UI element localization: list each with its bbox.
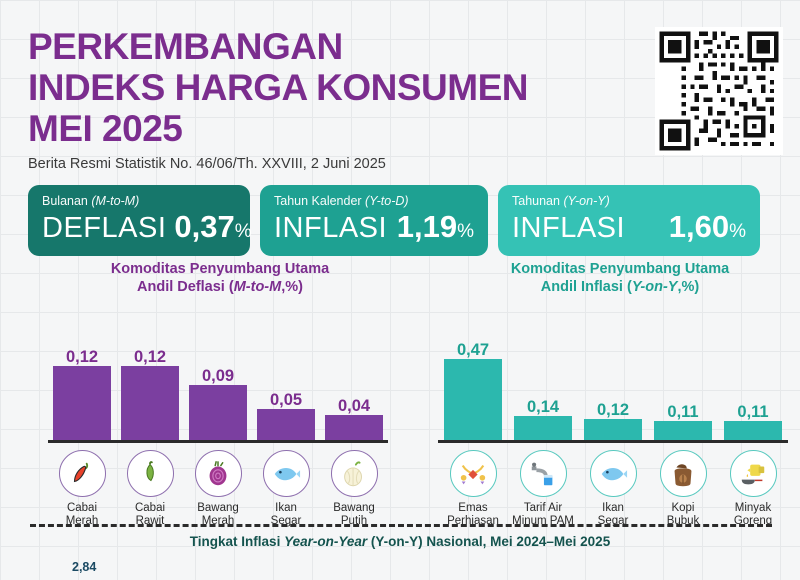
bar	[514, 416, 572, 440]
bar	[444, 359, 502, 440]
page-subtitle: Berita Resmi Statistik No. 46/06/Th. XXV…	[28, 156, 528, 172]
garlic-icon	[331, 450, 378, 497]
chart-inflasi-y-on-y: 0,470,140,120,110,11 EmasPerhiasanTarif …	[438, 318, 788, 518]
chili-red-icon	[59, 450, 106, 497]
onion-red-icon	[195, 450, 242, 497]
page-title-line-1: PERKEMBANGAN	[28, 26, 528, 67]
bar-value-label: 0,47	[457, 341, 489, 359]
bar-column: 0,47	[438, 318, 508, 440]
stat-label-ytd: Tahun Kalender (Y-to-D)	[274, 194, 474, 208]
bar-column: 0,12	[48, 318, 116, 440]
stat-value-yoy: 1,60	[661, 209, 729, 245]
stat-percent-ytd: %	[457, 221, 474, 243]
fish-icon	[590, 450, 637, 497]
page-header: PERKEMBANGAN INDEKS HARGA KONSUMEN MEI 2…	[28, 26, 528, 172]
bar-value-label: 0,05	[270, 391, 302, 409]
bar-column: 0,09	[184, 318, 252, 440]
chart-inflasi-icons: EmasPerhiasanTarif AirMinum PAMIkanSegar…	[438, 450, 788, 528]
page-title: PERKEMBANGAN INDEKS HARGA KONSUMEN MEI 2…	[28, 26, 528, 149]
stat-word-monthly: DEFLASI	[42, 212, 166, 245]
bar-column: 0,11	[718, 318, 788, 440]
commodity-item: IkanSegar	[252, 450, 320, 528]
stat-box-monthly: Bulanan (M-to-M) DEFLASI 0,37 %	[28, 185, 250, 256]
stat-box-ytd: Tahun Kalender (Y-to-D) INFLASI 1,19 %	[260, 185, 488, 256]
coffee-sack-icon	[660, 450, 707, 497]
footer-line-chart: 2,84	[0, 558, 800, 580]
section-heading-deflasi-line-2: Andil Deflasi (M-to-M,%)	[30, 278, 410, 296]
bar	[654, 421, 712, 440]
bar-column: 0,14	[508, 318, 578, 440]
commodity-item: CabaiRawit	[116, 450, 184, 528]
qr-code[interactable]	[655, 27, 783, 155]
section-heading-inflasi: Komoditas Penyumbang Utama Andil Inflasi…	[440, 260, 800, 296]
stat-value-monthly: 0,37	[166, 209, 234, 245]
section-divider	[30, 524, 772, 527]
bar	[121, 366, 179, 440]
cooking-oil-icon	[730, 450, 777, 497]
stat-word-yoy: INFLASI	[512, 212, 625, 245]
bar-column: 0,12	[116, 318, 184, 440]
commodity-item: IkanSegar	[578, 450, 648, 528]
commodity-item: Tarif AirMinum PAM	[508, 450, 578, 528]
bar	[584, 419, 642, 440]
chart-deflasi-bars: 0,120,120,090,050,04	[48, 318, 388, 440]
page-title-line-2: INDEKS HARGA KONSUMEN	[28, 67, 528, 108]
commodity-item: BawangMerah	[184, 450, 252, 528]
bar-value-label: 0,11	[737, 403, 768, 421]
bar-column: 0,11	[648, 318, 718, 440]
stat-row-monthly: DEFLASI 0,37 %	[42, 209, 236, 245]
chart-inflasi-baseline	[438, 440, 788, 443]
qr-code-icon	[655, 27, 783, 155]
gold-jewelry-icon	[450, 450, 497, 497]
water-tap-icon	[520, 450, 567, 497]
stat-value-ytd: 1,19	[389, 209, 457, 245]
footer-chart-title: Tingkat Inflasi Year-on-Year (Y-on-Y) Na…	[0, 534, 800, 549]
bar	[53, 366, 111, 440]
bar-value-label: 0,12	[66, 348, 98, 366]
section-heading-inflasi-line-2: Andil Inflasi (Y-on-Y,%)	[440, 278, 800, 296]
section-heading-inflasi-line-1: Komoditas Penyumbang Utama	[440, 260, 800, 278]
bar-value-label: 0,14	[527, 398, 559, 416]
chart-deflasi-baseline	[48, 440, 388, 443]
bar-value-label: 0,12	[134, 348, 166, 366]
bar-column: 0,12	[578, 318, 648, 440]
bar	[724, 421, 782, 440]
section-heading-deflasi: Komoditas Penyumbang Utama Andil Deflasi…	[30, 260, 410, 296]
bar-value-label: 0,04	[338, 397, 370, 415]
commodity-item: MinyakGoreng	[718, 450, 788, 528]
stat-percent-yoy: %	[729, 221, 746, 243]
page-title-line-3: MEI 2025	[28, 108, 528, 149]
stat-boxes: Bulanan (M-to-M) DEFLASI 0,37 % Tahun Ka…	[28, 185, 760, 256]
bar-value-label: 0,11	[667, 403, 698, 421]
bar-column: 0,04	[320, 318, 388, 440]
bar-value-label: 0,09	[202, 367, 234, 385]
footer-first-value: 2,84	[72, 560, 96, 574]
bar	[325, 415, 383, 440]
stat-label-yoy: Tahunan (Y-on-Y)	[512, 194, 746, 208]
bar	[257, 409, 315, 440]
fish-icon	[263, 450, 310, 497]
commodity-item: EmasPerhiasan	[438, 450, 508, 528]
commodity-item: CabaiMerah	[48, 450, 116, 528]
bar-value-label: 0,12	[597, 401, 629, 419]
stat-label-monthly: Bulanan (M-to-M)	[42, 194, 236, 208]
stat-row-ytd: INFLASI 1,19 %	[274, 209, 474, 245]
stat-word-ytd: INFLASI	[274, 212, 387, 245]
section-heading-deflasi-line-1: Komoditas Penyumbang Utama	[30, 260, 410, 278]
chart-deflasi-icons: CabaiMerahCabaiRawitBawangMerahIkanSegar…	[48, 450, 388, 528]
bar-column: 0,05	[252, 318, 320, 440]
chart-inflasi-bars: 0,470,140,120,110,11	[438, 318, 788, 440]
stat-percent-monthly: %	[235, 221, 252, 243]
commodity-item: KopiBubuk	[648, 450, 718, 528]
bar	[189, 385, 247, 440]
stat-row-yoy: INFLASI 1,60 %	[512, 209, 746, 245]
chart-deflasi-m-to-m: 0,120,120,090,050,04 CabaiMerahCabaiRawi…	[48, 318, 388, 518]
chili-green-icon	[127, 450, 174, 497]
commodity-item: BawangPutih	[320, 450, 388, 528]
stat-box-yoy: Tahunan (Y-on-Y) INFLASI 1,60 %	[498, 185, 760, 256]
